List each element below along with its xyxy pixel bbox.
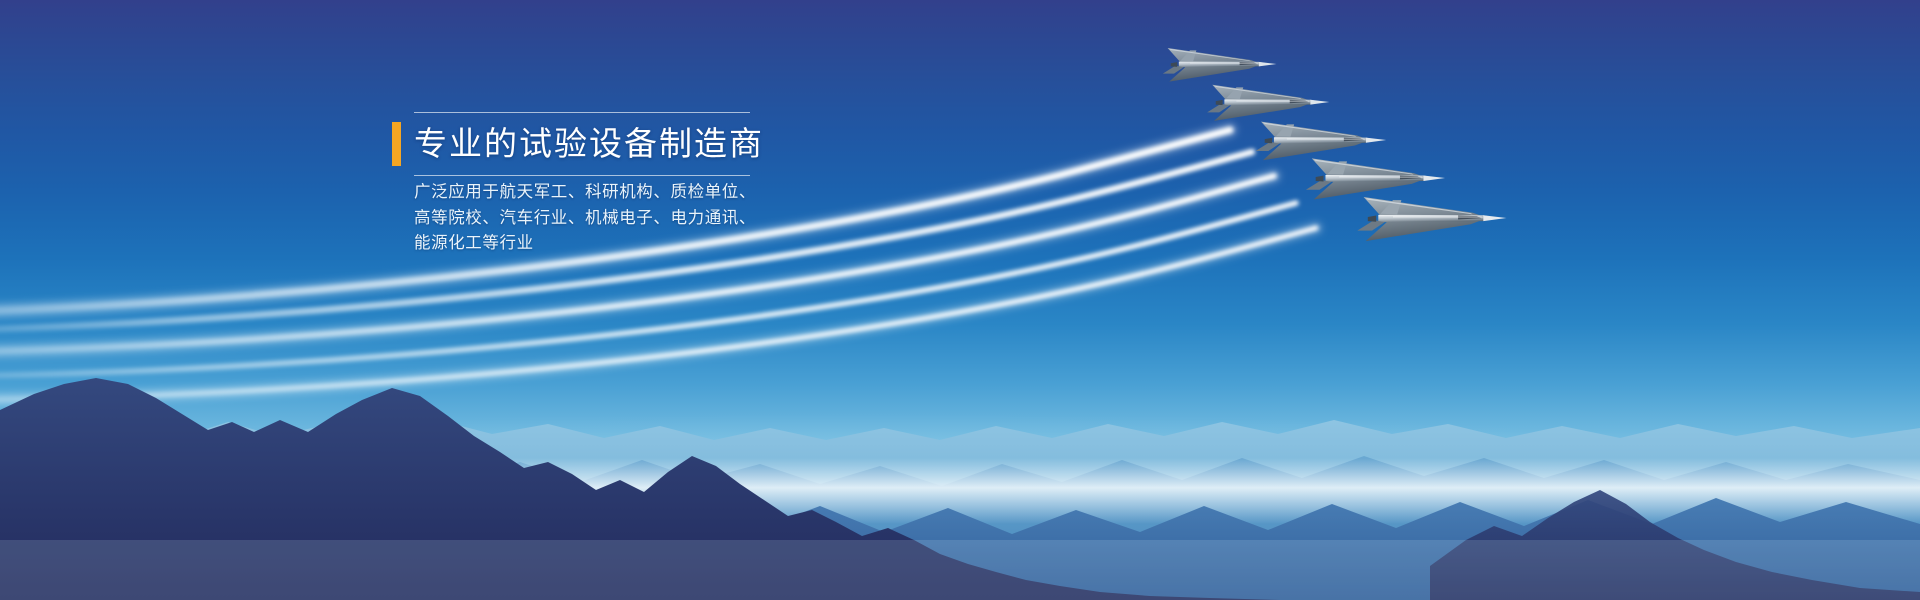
subtitle-line: 能源化工等行业: [414, 231, 812, 257]
divider-bottom: [414, 175, 750, 176]
fighter-jet-formation-icon: [1120, 40, 1520, 270]
banner-title: 专业的试验设备制造商: [414, 122, 764, 166]
banner-text-block: 专业的试验设备制造商 广泛应用于航天军工、科研机构、质检单位、 高等院校、汽车行…: [392, 112, 812, 257]
accent-bar-icon: [392, 122, 401, 166]
banner-title-row: 专业的试验设备制造商: [392, 122, 812, 166]
subtitle-line: 高等院校、汽车行业、机械电子、电力通讯、: [414, 206, 812, 232]
hero-banner: 专业的试验设备制造商 广泛应用于航天军工、科研机构、质检单位、 高等院校、汽车行…: [0, 0, 1920, 600]
mountain-range-silhouette: [0, 340, 1920, 600]
subtitle-line: 广泛应用于航天军工、科研机构、质检单位、: [414, 180, 812, 206]
banner-subtitle: 广泛应用于航天军工、科研机构、质检单位、 高等院校、汽车行业、机械电子、电力通讯…: [414, 180, 812, 257]
divider-top: [414, 112, 750, 113]
